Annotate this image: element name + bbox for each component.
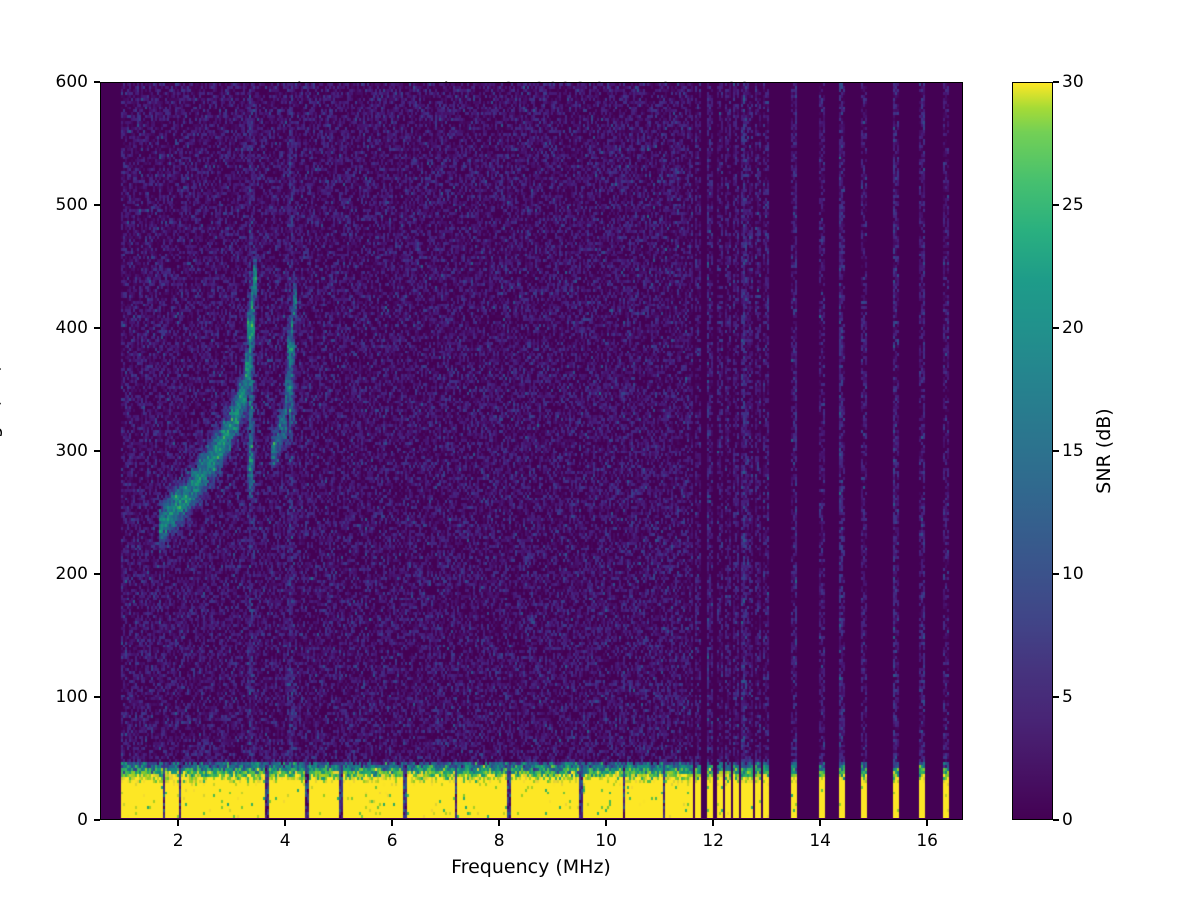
x-tick-label: 12 [683, 831, 743, 851]
x-tick-label: 10 [576, 831, 636, 851]
y-tick-mark [94, 573, 100, 575]
ionogram-figure: IRF Kiruna Ionosonde KI167 2026-01-14 07… [0, 0, 1200, 900]
x-tick-mark [926, 820, 928, 826]
x-tick-label: 14 [790, 831, 850, 851]
y-tick-label: 500 [38, 195, 88, 215]
colorbar [1012, 82, 1053, 820]
x-axis-label: Frequency (MHz) [451, 856, 611, 878]
colorbar-tick-label: 20 [1062, 318, 1084, 338]
x-tick-label: 6 [362, 831, 422, 851]
colorbar-tick-label: 25 [1062, 195, 1084, 215]
y-tick-label: 0 [38, 810, 88, 830]
colorbar-tick-mark [1053, 81, 1059, 83]
colorbar-tick-label: 30 [1062, 72, 1084, 92]
colorbar-tick-label: 10 [1062, 564, 1084, 584]
ionogram-heatmap-canvas [101, 83, 961, 818]
x-tick-label: 16 [897, 831, 957, 851]
colorbar-tick-mark [1053, 327, 1059, 329]
y-tick-label: 600 [38, 72, 88, 92]
colorbar-tick-label: 15 [1062, 441, 1084, 461]
x-tick-label: 2 [148, 831, 208, 851]
colorbar-tick-label: 0 [1062, 810, 1073, 830]
ionogram-plot-area[interactable] [100, 82, 963, 820]
x-tick-label: 4 [255, 831, 315, 851]
y-tick-mark [94, 81, 100, 83]
x-tick-mark [498, 820, 500, 826]
x-tick-label: 8 [469, 831, 529, 851]
x-tick-mark [177, 820, 179, 826]
y-tick-mark [94, 450, 100, 452]
y-tick-label: 300 [38, 441, 88, 461]
x-tick-mark [819, 820, 821, 826]
colorbar-tick-mark [1053, 819, 1059, 821]
x-tick-mark [712, 820, 714, 826]
y-tick-mark [94, 327, 100, 329]
x-tick-mark [284, 820, 286, 826]
y-tick-mark [94, 696, 100, 698]
x-tick-mark [391, 820, 393, 826]
colorbar-label: SNR (dB) [1093, 408, 1115, 493]
x-tick-mark [605, 820, 607, 826]
colorbar-tick-label: 5 [1062, 687, 1073, 707]
y-tick-label: 100 [38, 687, 88, 707]
colorbar-tick-mark [1053, 204, 1059, 206]
y-tick-label: 200 [38, 564, 88, 584]
y-tick-mark [94, 204, 100, 206]
colorbar-tick-mark [1053, 696, 1059, 698]
y-axis-label: Virtual range (km) [0, 364, 3, 538]
colorbar-tick-mark [1053, 450, 1059, 452]
colorbar-tick-mark [1053, 573, 1059, 575]
y-tick-label: 400 [38, 318, 88, 338]
y-tick-mark [94, 819, 100, 821]
